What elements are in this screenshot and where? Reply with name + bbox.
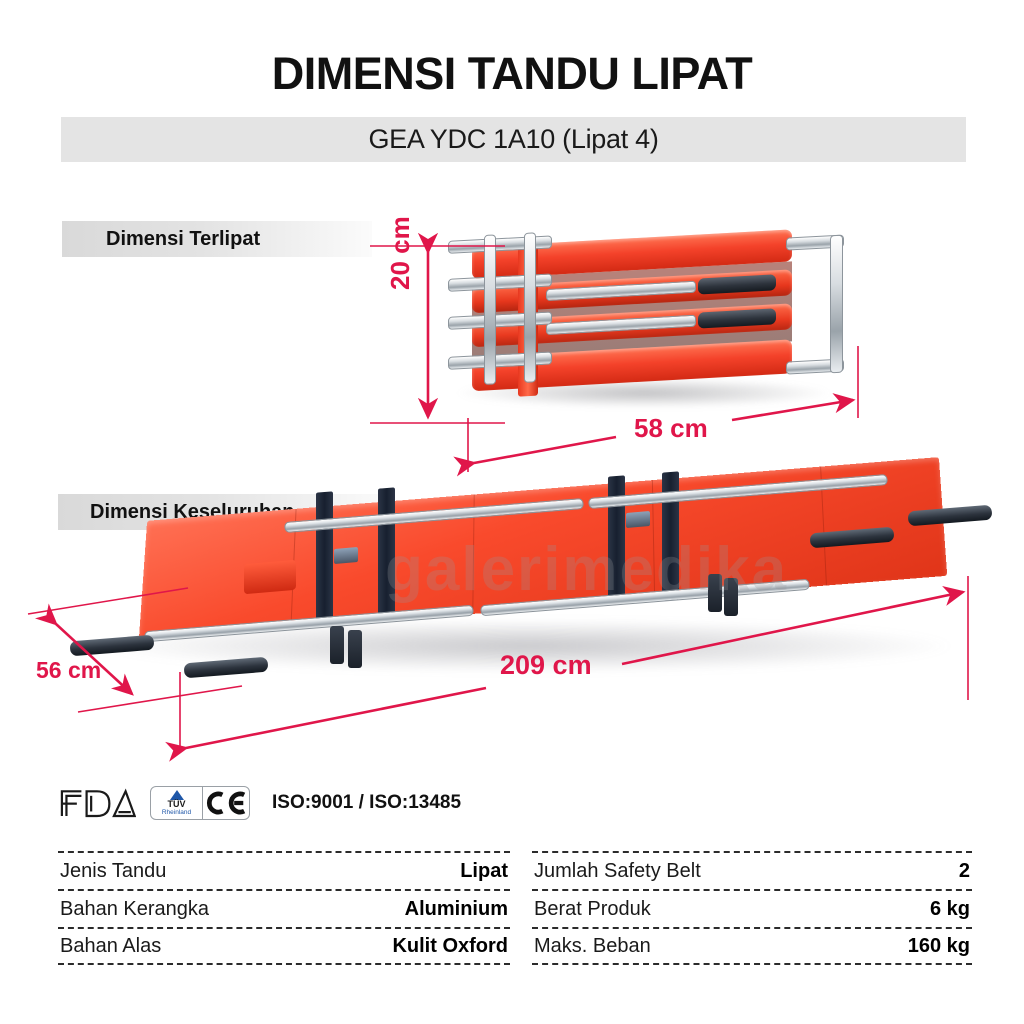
folded-right-frame: [786, 232, 848, 385]
dimension-label-open-length: 209 cm: [500, 650, 592, 681]
page-title: DIMENSI TANDU LIPAT: [0, 48, 1024, 100]
folded-vertical-brace: [524, 232, 536, 383]
spec-key: Bahan Alas: [60, 935, 161, 958]
folded-tube-end: [448, 311, 552, 329]
safety-belt: [378, 487, 395, 616]
subtitle-band: GEA YDC 1A10 (Lipat 4): [61, 117, 966, 162]
spec-row: Berat Produk 6 kg: [532, 889, 972, 927]
spec-key: Berat Produk: [534, 898, 651, 921]
safety-belt: [316, 491, 333, 620]
tuv-rheinland-logo-icon: TÜV Rheinland: [151, 787, 203, 819]
spec-value: Lipat: [460, 860, 508, 883]
dimension-label-open-width: 56 cm: [36, 657, 101, 684]
stretcher-leg: [330, 626, 344, 664]
spec-table-right: Jumlah Safety Belt 2 Berat Produk 6 kg M…: [532, 851, 972, 965]
product-model-subtitle: GEA YDC 1A10 (Lipat 4): [61, 117, 966, 162]
certification-row: TÜV Rheinland ISO:9001 / ISO:13485: [58, 786, 461, 820]
folded-tube-end: [448, 273, 552, 291]
spec-key: Jumlah Safety Belt: [534, 860, 701, 883]
belt-buckle: [334, 547, 358, 564]
spec-value: Kulit Oxford: [392, 935, 508, 958]
spec-row: Maks. Beban 160 kg: [532, 927, 972, 965]
spec-value: Aluminium: [405, 898, 508, 921]
spec-table-left: Jenis Tandu Lipat Bahan Kerangka Alumini…: [58, 851, 510, 965]
ce-mark-icon: [203, 787, 249, 819]
spec-key: Maks. Beban: [534, 935, 651, 958]
folded-left-frame: [448, 229, 558, 395]
folded-stretcher-photo: [446, 228, 850, 418]
folded-vertical-brace: [830, 235, 843, 374]
spec-key: Jenis Tandu: [60, 860, 166, 883]
section-banner-folded: Dimensi Terlipat: [62, 221, 372, 257]
folded-vertical-brace: [484, 234, 496, 385]
stretcher-leg: [708, 574, 722, 612]
tuv-label: TÜV: [168, 800, 186, 809]
spec-key: Bahan Kerangka: [60, 898, 209, 921]
deck-latch: [244, 560, 296, 595]
folded-tube-end: [448, 351, 552, 369]
fda-logo-icon: [58, 786, 136, 820]
dimension-label-folded-height: 20 cm: [385, 216, 416, 290]
dimension-label-folded-length: 58 cm: [634, 413, 708, 444]
spec-value: 6 kg: [930, 898, 970, 921]
spec-row: Bahan Kerangka Aluminium: [58, 889, 510, 927]
rheinland-label: Rheinland: [162, 809, 191, 816]
spec-value: 160 kg: [908, 935, 970, 958]
section-banner-folded-label: Dimensi Terlipat: [106, 228, 260, 251]
stretcher-leg: [348, 630, 362, 668]
spec-row: Bahan Alas Kulit Oxford: [58, 927, 510, 965]
belt-buckle: [626, 511, 650, 528]
spec-row: Jenis Tandu Lipat: [58, 851, 510, 889]
folded-tube-end: [448, 235, 552, 253]
tuv-ce-badge: TÜV Rheinland: [150, 786, 250, 820]
spec-value: 2: [959, 860, 970, 883]
stretcher-leg: [724, 578, 738, 616]
spec-row: Jumlah Safety Belt 2: [532, 851, 972, 889]
iso-certification-label: ISO:9001 / ISO:13485: [272, 792, 461, 814]
